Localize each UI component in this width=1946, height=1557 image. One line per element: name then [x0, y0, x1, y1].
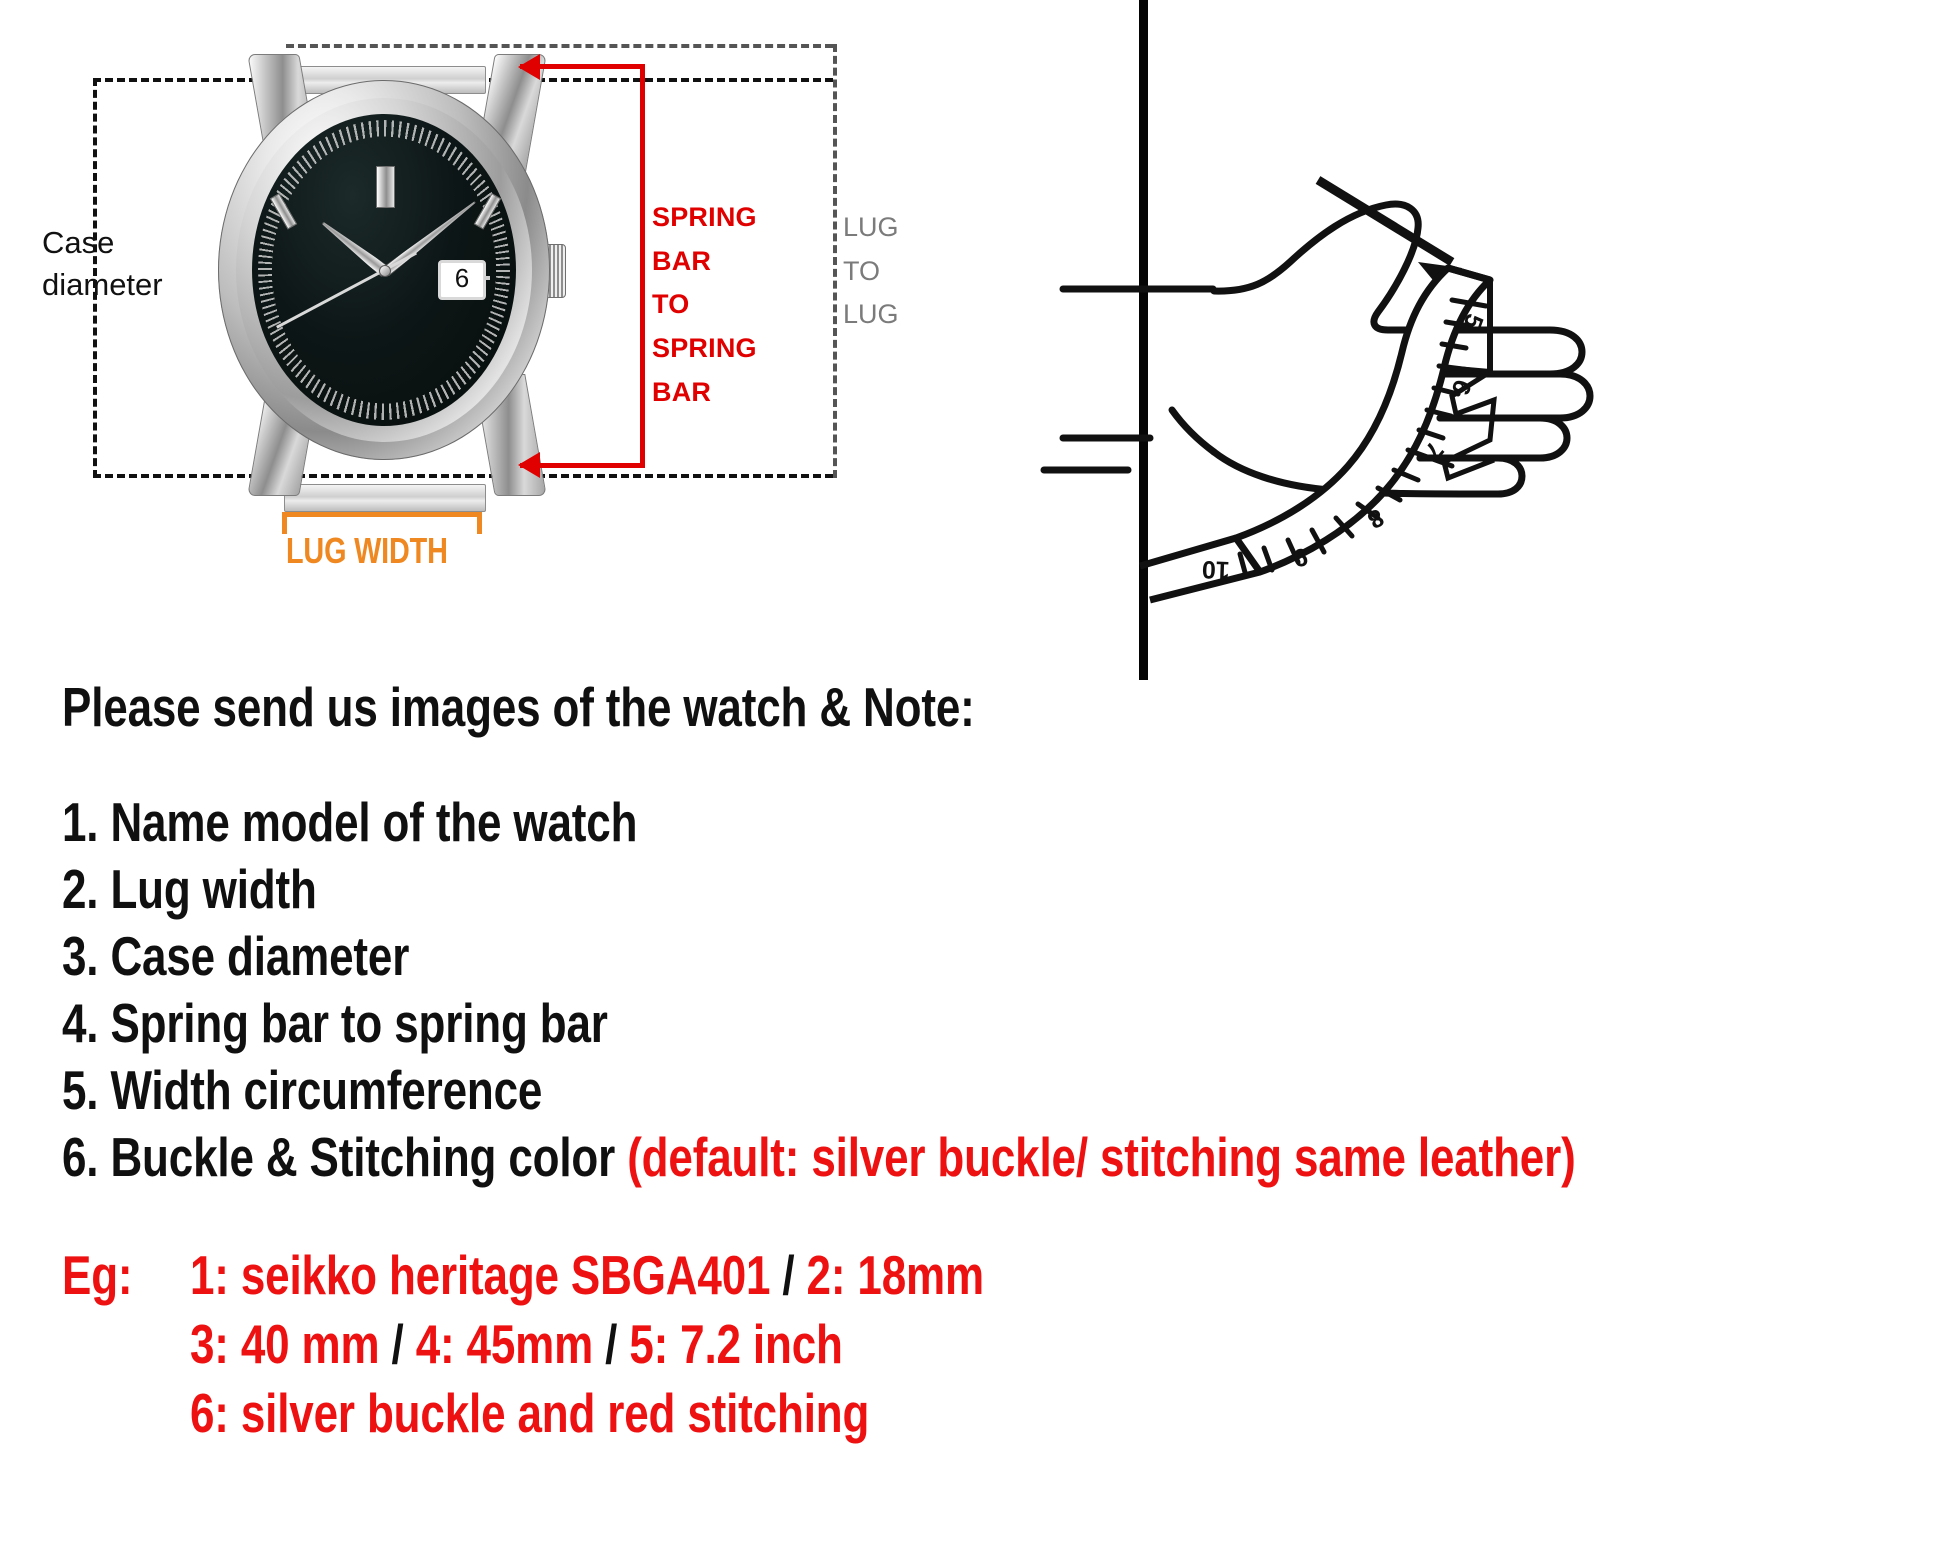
example-line-2-part-2: 4: 45mm	[416, 1313, 593, 1375]
measurement-guide-page: Case diameter	[0, 0, 1946, 1557]
instruction-item-6-label: 6. Buckle & Stitching color	[62, 1126, 627, 1188]
instructions-block: Please send us images of the watch & Not…	[0, 690, 1946, 1557]
wrist-and-tape-illustration: 5 6 7 8 9 10	[0, 0, 1946, 690]
example-line-1-part-1: 1: seikko heritage SBGA401	[190, 1244, 770, 1306]
example-label: Eg:	[62, 1243, 132, 1307]
instruction-item-4: 4. Spring bar to spring bar	[62, 991, 608, 1055]
example-line-1: 1: seikko heritage SBGA401 / 2: 18mm	[190, 1243, 984, 1307]
instructions-heading: Please send us images of the watch & Not…	[62, 675, 975, 739]
diagram-area: Case diameter	[0, 0, 1946, 690]
example-line-1-part-2: 2: 18mm	[807, 1244, 984, 1306]
instruction-item-3: 3. Case diameter	[62, 924, 409, 988]
instruction-item-5: 5. Width circumference	[62, 1058, 542, 1122]
instruction-item-6: 6. Buckle & Stitching color (default: si…	[62, 1125, 1576, 1189]
instruction-item-6-default-note: (default: silver buckle/ stitching same …	[627, 1126, 1575, 1188]
example-line-2-part-3: 5: 7.2 inch	[629, 1313, 842, 1375]
example-line-2-separator-1: /	[379, 1313, 415, 1375]
example-line-1-separator-1: /	[770, 1244, 806, 1306]
example-line-3: 6: silver buckle and red stitching	[190, 1381, 869, 1445]
instruction-item-2: 2. Lug width	[62, 857, 317, 921]
hand-outline	[1044, 204, 1590, 494]
instruction-item-1: 1. Name model of the watch	[62, 790, 637, 854]
tape-number-8: 8	[1363, 503, 1389, 534]
example-line-2-separator-2: /	[593, 1313, 629, 1375]
tape-number-10: 10	[1201, 555, 1230, 584]
example-line-2: 3: 40 mm / 4: 45mm / 5: 7.2 inch	[190, 1312, 843, 1376]
example-line-2-part-1: 3: 40 mm	[190, 1313, 379, 1375]
